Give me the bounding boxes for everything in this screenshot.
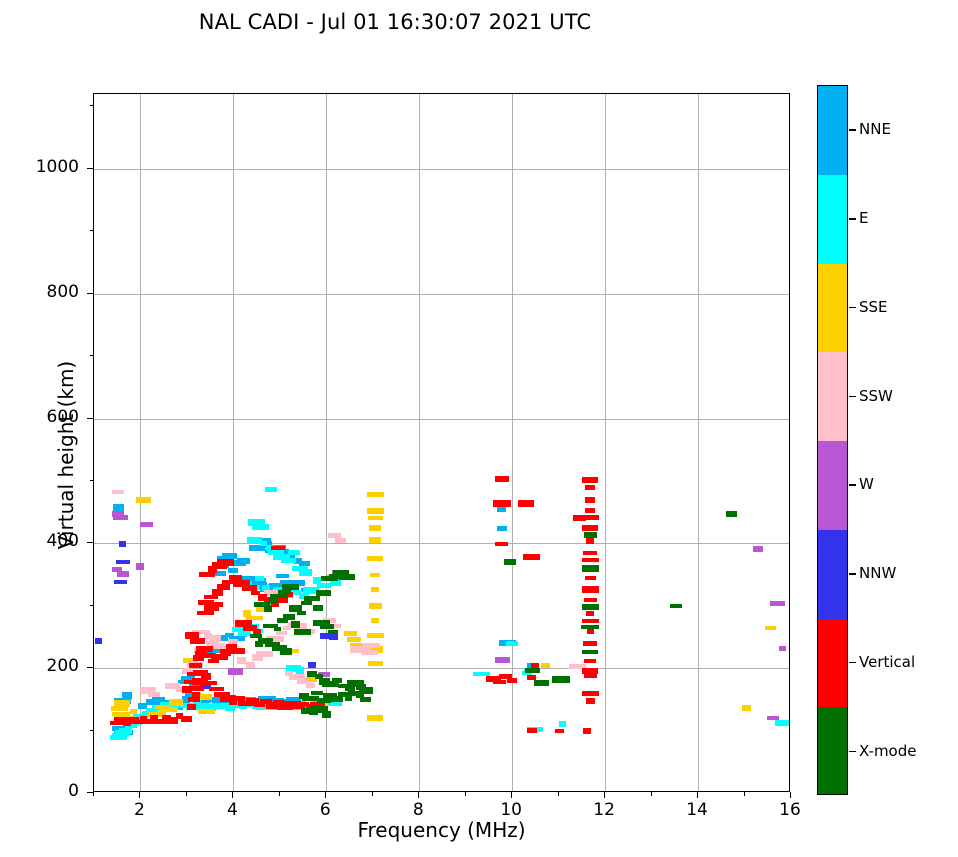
data-mark [322,711,331,718]
data-mark [255,641,263,647]
data-mark [193,655,204,661]
y-tick [87,667,93,668]
data-mark [347,637,361,642]
x-tick [790,792,791,798]
data-mark [187,704,196,710]
x-tick [511,792,512,798]
data-mark [582,650,598,654]
data-mark [276,574,289,578]
colorbar-tick [849,218,856,219]
colorbar-label-ssw: SSW [859,387,893,405]
data-mark [753,546,763,552]
data-mark [231,648,245,654]
data-mark [189,663,202,668]
data-mark [495,657,510,663]
y-minor-tick [90,730,94,731]
data-mark [113,515,128,520]
data-mark [365,643,380,648]
data-mark [217,584,230,590]
x-tick-label: 6 [295,800,355,820]
y-tick [87,418,93,419]
data-mark [368,516,383,520]
y-tick [87,293,93,294]
data-mark [585,485,595,490]
colorbar-label-sse: SSE [859,298,888,316]
data-mark [559,721,566,727]
data-mark [188,697,200,702]
data-mark [95,638,102,644]
x-tick [232,792,233,798]
data-mark [583,641,597,646]
data-mark [586,538,594,544]
colorbar-segment-sse[interactable] [818,264,847,353]
y-tick [87,792,93,793]
data-mark [288,550,300,555]
data-mark [367,556,383,561]
data-mark [371,587,379,592]
data-mark [495,476,509,482]
data-mark [256,651,273,657]
data-mark [582,619,599,623]
data-mark [299,569,312,576]
data-mark [112,490,124,494]
data-mark [527,728,537,733]
y-tick [87,168,93,169]
data-mark [265,487,277,492]
data-mark [585,576,596,580]
colorbar-segment-ssw[interactable] [818,352,847,441]
data-mark [213,602,223,607]
data-mark [169,699,183,706]
data-mark [523,554,540,560]
data-mark [493,500,511,507]
colorbar-label-nnw: NNW [859,564,896,582]
data-mark [367,715,383,721]
data-mark [246,662,255,668]
y-minor-tick [90,605,94,606]
data-mark [281,558,296,563]
data-mark [320,624,334,629]
data-mark [493,680,506,684]
x-minor-tick [186,792,187,796]
colorbar-tick [849,751,856,752]
data-mark [276,631,287,635]
ionogram-figure: NAL CADI - Jul 01 16:30:07 2021 UTC 2468… [0,0,958,857]
data-mark [495,542,508,546]
data-mark [264,605,272,612]
x-minor-tick [558,792,559,796]
data-mark [304,596,320,601]
data-mark [583,551,597,555]
data-mark [204,595,218,599]
data-mark [767,716,779,720]
data-mark [119,728,132,734]
x-tick [604,792,605,798]
colorbar-tick [849,307,856,308]
colorbar-tick [849,573,856,574]
y-tick-label: 200 [9,656,79,676]
data-mark [114,580,127,584]
data-mark [269,598,278,603]
data-mark [587,629,594,634]
data-mark [331,696,343,702]
data-mark [344,631,357,636]
data-mark [584,659,596,663]
colorbar-label-w: W [859,475,874,493]
data-mark [541,663,550,668]
data-mark [506,641,518,646]
data-mark [306,683,315,688]
data-mark [504,559,516,565]
colorbar-label-vertical: Vertical [859,653,915,671]
data-mark [255,576,264,581]
data-mark [148,692,160,697]
data-mark [110,735,126,740]
data-mark [518,500,534,507]
data-mark [359,687,373,694]
data-mark [585,497,595,503]
data-mark [294,629,311,635]
plot-area [93,93,790,792]
data-mark [779,646,786,651]
colorbar[interactable] [817,85,848,795]
data-mark [582,604,599,610]
colorbar-tick [849,484,856,485]
x-tick-label: 16 [760,800,820,820]
colorbar-segment-x-mode[interactable] [818,707,847,793]
y-axis-title: Virtual height (km) [54,305,78,605]
data-mark [582,691,599,696]
data-mark [187,672,199,676]
data-mark [726,511,737,517]
colorbar-segment-e[interactable] [818,175,847,264]
x-tick [418,792,419,798]
data-mark [274,627,281,631]
x-tick [325,792,326,798]
data-mark [497,526,507,531]
y-minor-tick [90,230,94,231]
data-mark [582,558,599,562]
y-minor-tick [90,105,94,106]
data-mark [586,611,594,616]
data-mark [159,707,177,712]
data-mark [367,492,384,497]
data-mark [584,673,597,678]
data-mark [316,590,331,596]
data-mark [311,691,323,695]
data-mark [583,728,591,734]
data-mark [368,661,383,666]
data-mark [525,668,540,673]
data-mark [140,522,153,527]
data-mark [332,678,342,683]
data-mark [534,680,549,686]
data-mark [742,705,751,711]
data-mark [282,584,299,590]
data-mark [369,603,382,609]
data-mark [228,568,238,573]
data-mark [339,574,355,580]
data-mark [370,573,380,577]
data-mark [770,601,785,606]
x-minor-tick [744,792,745,796]
colorbar-label-x-mode: X-mode [859,742,916,760]
data-mark [317,698,331,703]
data-mark [301,601,312,605]
data-mark [130,709,137,714]
x-axis-title: Frequency (MHz) [93,818,790,842]
colorbar-tick [849,129,856,130]
colorbar-segment-w[interactable] [818,441,847,530]
x-tick-label: 14 [667,800,727,820]
data-mark [116,560,130,564]
data-mark [181,716,192,722]
x-minor-tick [279,792,280,796]
data-mark [198,600,214,605]
data-mark [584,598,597,602]
data-mark [119,541,126,547]
data-mark [209,635,221,642]
data-mark [497,507,506,512]
data-mark [252,524,269,530]
data-mark [369,525,381,531]
data-mark [283,626,291,630]
colorbar-segment-nnw[interactable] [818,530,847,619]
data-mark [361,650,378,655]
data-mark [205,681,217,685]
data-mark [270,594,288,598]
data-mark [197,611,214,615]
data-mark [328,630,338,634]
data-mark [136,497,151,503]
data-mark [122,692,132,699]
data-mark [329,634,338,640]
data-mark [198,709,215,714]
data-mark [334,624,341,628]
y-tick-label: 1000 [9,157,79,177]
page-title: NAL CADI - Jul 01 16:30:07 2021 UTC [0,10,790,34]
y-tick-label: 0 [9,781,79,801]
data-mark [278,590,291,594]
data-mark [117,571,129,577]
data-mark [283,614,295,620]
x-tick [139,792,140,798]
x-minor-tick [372,792,373,796]
x-minor-tick [651,792,652,796]
data-mark [190,638,205,644]
data-mark [584,532,597,538]
data-mark [586,698,595,704]
data-mark [291,621,300,628]
data-mark [182,686,192,693]
colorbar-tick [849,662,856,663]
data-mark [367,508,384,514]
data-mark [585,508,595,513]
x-tick-label: 12 [574,800,634,820]
data-mark [297,611,306,615]
data-mark [220,649,231,656]
data-mark [582,525,598,531]
data-mark [335,538,346,543]
data-mark [555,729,564,733]
data-mark [582,565,599,572]
data-mark [250,634,262,638]
data-mark [114,700,130,707]
data-mark [196,646,213,652]
data-mark [367,633,384,638]
data-mark [308,662,316,668]
data-mark [775,720,789,726]
colorbar-label-e: E [859,209,868,227]
y-minor-tick [90,355,94,356]
data-mark [201,673,211,680]
colorbar-tick [849,396,856,397]
data-mark [317,583,331,588]
data-mark [271,546,285,550]
x-tick [697,792,698,798]
data-mark [582,586,599,593]
data-mark [552,676,570,683]
x-tick-label: 8 [388,800,448,820]
data-mark [582,477,598,483]
data-mark [217,559,234,566]
data-mark [507,678,517,683]
x-tick-label: 2 [109,800,169,820]
colorbar-segment-nne[interactable] [818,86,847,175]
data-mark [280,648,292,655]
data-mark [313,605,323,611]
x-tick-label: 10 [481,800,541,820]
data-mark [360,697,371,702]
data-mark [371,618,379,623]
data-mark [136,563,144,570]
data-mark [345,696,352,701]
x-minor-tick [465,792,466,796]
y-tick [87,542,93,543]
x-tick-label: 4 [202,800,262,820]
data-mark [573,515,586,521]
data-mark [765,626,776,630]
data-mark [209,687,224,691]
data-mark [237,558,250,564]
y-tick-label: 800 [9,282,79,302]
colorbar-label-nne: NNE [859,120,891,138]
y-minor-tick [90,480,94,481]
data-mark [369,537,381,543]
scatter-data-layer [94,94,789,791]
x-minor-tick [93,792,94,796]
data-mark [670,604,682,608]
data-mark [581,625,599,629]
colorbar-segment-vertical[interactable] [818,619,847,708]
data-mark [184,680,195,684]
data-mark [228,668,243,675]
